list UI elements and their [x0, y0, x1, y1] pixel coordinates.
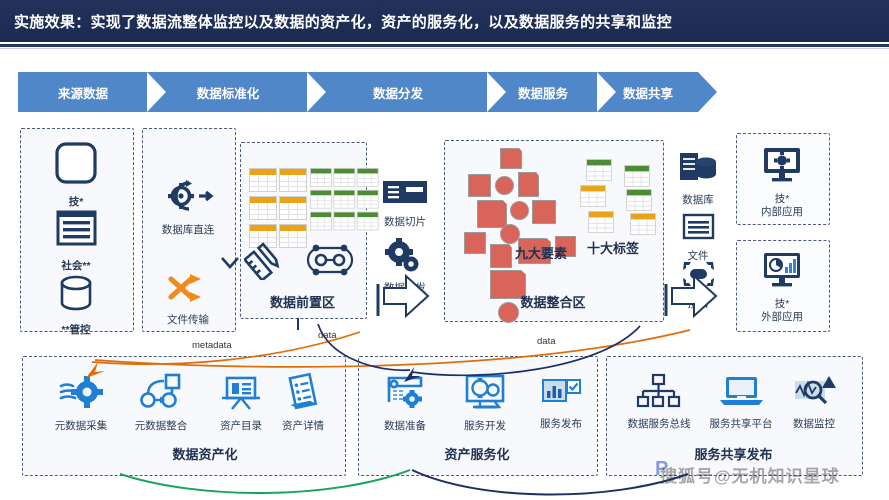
internal-app-line2: 内部应用: [748, 206, 816, 219]
output-item-file[interactable]: 文件: [668, 212, 728, 263]
mini-table: [333, 190, 355, 209]
external-app-line1: 技*: [748, 298, 816, 311]
share-platform-icon: [717, 372, 765, 410]
watermark-text: 搜狐号@无机知识星球: [660, 462, 840, 487]
ten-tags-tables: [585, 158, 651, 228]
metadata-collect-icon: [58, 372, 104, 412]
share-item-2[interactable]: 服务共享平台: [700, 372, 782, 431]
document-lines-icon: [50, 208, 102, 252]
shuffle-arrows-icon: [159, 272, 217, 306]
chevron-step-1-label: 来源数据: [54, 83, 112, 102]
chevron-step-5[interactable]: 数据共享: [598, 72, 698, 112]
monitor-gear-icon: [756, 145, 808, 185]
service-item-1[interactable]: 数据准备: [370, 372, 440, 433]
service-publish-icon: [537, 372, 585, 410]
pre-zone-icon-standardize[interactable]: [243, 240, 289, 288]
pre-zone-title: 数据前置区: [240, 292, 365, 311]
internal-app-line1: 技*: [748, 193, 816, 206]
service-item-3-label: 服务发布: [526, 418, 596, 431]
output-item-api-label: 接口: [668, 298, 728, 311]
gear-arrow-icon: [159, 178, 217, 216]
share-zone-title: 服务共享发布: [606, 444, 861, 463]
dispatch-item-distribute-label: 数据分发: [372, 282, 438, 295]
mini-table: [249, 196, 277, 220]
chevron-step-3[interactable]: 数据分发: [308, 72, 488, 112]
mini-table: [580, 185, 606, 207]
source-item-1[interactable]: 技*: [40, 140, 112, 209]
service-item-1-label: 数据准备: [370, 420, 440, 433]
service-item-2-label: 服务开发: [450, 420, 520, 433]
mini-table: [624, 165, 650, 187]
file-lines-icon: [676, 212, 720, 242]
data-slice-icon: [380, 178, 430, 208]
pre-zone-orange-tables: [249, 168, 305, 248]
chevron-step-2-label: 数据标准化: [193, 83, 264, 102]
pre-zone-icon-process[interactable]: [305, 240, 355, 288]
header-rule: [0, 44, 889, 47]
chevron-step-1[interactable]: 来源数据: [18, 72, 148, 112]
service-item-2[interactable]: 服务开发: [450, 372, 520, 433]
ingest-item-dbconnect-label: 数据库直连: [148, 224, 228, 237]
metadata-merge-icon: [138, 372, 184, 412]
asset-item-4-label: 资产详情: [264, 420, 342, 433]
service-bus-icon: [636, 372, 682, 410]
asset-detail-icon: [280, 372, 326, 412]
mini-table: [310, 168, 332, 187]
nine-elements-label: 九大要素: [515, 243, 567, 262]
pre-zone-green-tables: [310, 168, 377, 230]
share-item-3-label: 数据监控: [778, 418, 850, 431]
share-item-1-label: 数据服务总线: [618, 418, 700, 431]
mini-table: [249, 168, 277, 192]
external-app-line2: 外部应用: [748, 311, 816, 324]
service-item-3[interactable]: 服务发布: [526, 372, 596, 431]
dispatch-item-slice[interactable]: 数据切片: [372, 178, 438, 229]
api-node-icon: [676, 258, 720, 290]
page-title: 实施效果：实现了数据流整体监控以及数据的资产化，资产的服务化，以及数据服务的共享…: [14, 11, 672, 32]
share-item-1[interactable]: 数据服务总线: [618, 372, 700, 431]
chevron-step-2[interactable]: 数据标准化: [148, 72, 308, 112]
ingest-item-dbconnect[interactable]: 数据库直连: [148, 178, 228, 237]
chevron-step-4-label: 数据服务: [514, 83, 572, 102]
output-item-database[interactable]: 数据库: [668, 150, 728, 207]
ingest-item-filetransfer[interactable]: 文件传输: [148, 272, 228, 327]
asset-item-4[interactable]: 资产详情: [264, 372, 342, 433]
mini-table: [586, 159, 612, 181]
share-item-3[interactable]: 数据监控: [778, 372, 850, 431]
mini-table: [630, 213, 656, 235]
output-item-database-label: 数据库: [668, 194, 728, 207]
database-cylinder-icon: [50, 272, 102, 316]
source-item-2[interactable]: 社会**: [40, 208, 112, 273]
monitor-chart-icon: [756, 250, 808, 290]
mini-table: [279, 168, 307, 192]
chevron-step-3-label: 数据分发: [369, 83, 427, 102]
mini-table: [626, 189, 652, 211]
header-banner: 实施效果：实现了数据流整体监控以及数据的资产化，资产的服务化，以及数据服务的共享…: [0, 0, 889, 42]
dispatch-item-distribute[interactable]: 数据分发: [372, 238, 438, 295]
gears-icon: [380, 238, 430, 274]
ruler-pencil-icon: [244, 240, 288, 280]
edge-label-data-1: data: [318, 330, 337, 341]
mini-table: [310, 190, 332, 209]
mini-table: [310, 212, 332, 231]
header-rule-light: [0, 48, 889, 49]
data-prep-icon: [382, 372, 428, 412]
gear-network-icon: [306, 240, 354, 280]
rounded-square-icon: [50, 140, 102, 188]
slide-canvas: 实施效果：实现了数据流整体监控以及数据的资产化，资产的服务化，以及数据服务的共享…: [0, 0, 889, 500]
share-item-2-label: 服务共享平台: [700, 418, 782, 431]
asset-catalog-icon: [218, 372, 264, 412]
asset-item-2[interactable]: 元数据整合: [122, 372, 200, 433]
source-item-3-label: **管控: [40, 324, 112, 337]
source-item-3[interactable]: **管控: [40, 272, 112, 337]
mini-table: [333, 212, 355, 231]
process-chevron-bar: 来源数据 数据标准化 数据分发 数据服务 数据共享: [18, 72, 698, 112]
asset-item-1[interactable]: 元数据采集: [42, 372, 120, 433]
service-zone-title: 资产服务化: [358, 444, 596, 463]
chevron-step-4[interactable]: 数据服务: [488, 72, 598, 112]
edge-label-metadata: metadata: [192, 340, 232, 351]
internal-app-item[interactable]: 技* 内部应用: [748, 145, 816, 219]
asset-zone-title: 数据资产化: [90, 444, 320, 463]
mini-table: [588, 211, 614, 233]
asset-item-2-label: 元数据整合: [122, 420, 200, 433]
dispatch-item-slice-label: 数据切片: [372, 216, 438, 229]
edge-label-data-2: data: [537, 336, 556, 347]
chevron-step-5-label: 数据共享: [619, 83, 677, 102]
integrate-zone-title: 数据整合区: [444, 292, 662, 311]
asset-item-1-label: 元数据采集: [42, 420, 120, 433]
mini-table: [279, 196, 307, 220]
service-dev-icon: [461, 372, 509, 412]
data-monitor-icon: [790, 372, 838, 410]
ingest-item-filetransfer-label: 文件传输: [148, 314, 228, 327]
external-app-item[interactable]: 技* 外部应用: [748, 250, 816, 324]
ten-tags-label: 十大标签: [587, 238, 639, 257]
nine-elements-cluster: [462, 148, 592, 288]
mini-table: [333, 168, 355, 187]
output-item-api[interactable]: 接口: [668, 258, 728, 311]
database-doc-icon: [674, 150, 722, 186]
